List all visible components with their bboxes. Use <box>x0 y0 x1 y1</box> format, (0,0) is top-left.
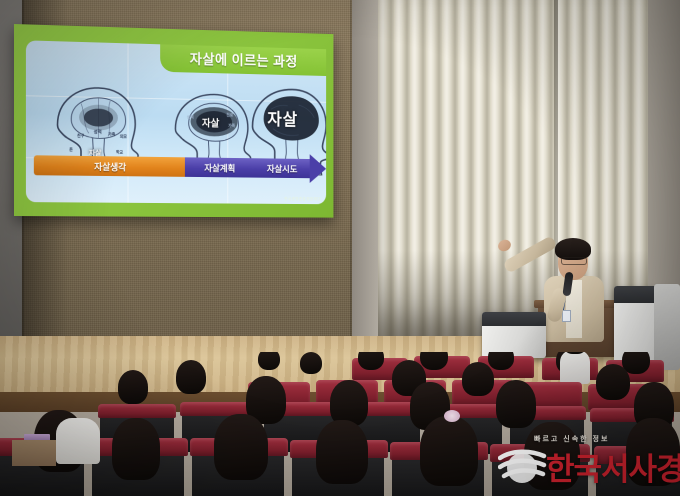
person-head-foreground <box>420 416 478 486</box>
process-segment-1-label: 자살생각 <box>94 160 126 173</box>
av-cart-left-top <box>482 312 546 326</box>
thought-word: 돈 <box>69 147 73 153</box>
thought-word: 학교 <box>116 149 123 155</box>
person-head <box>488 352 514 370</box>
thought-word: 성적 <box>187 114 194 120</box>
person-head <box>496 380 536 428</box>
wave-logo-icon <box>498 448 550 484</box>
auditorium-photo: 자살에 이르는 과정 자살 친구 성적 가족 외모 돈 진로 <box>0 0 680 496</box>
person-head-foreground <box>214 414 268 480</box>
thought-word: 친구 <box>77 133 84 139</box>
side-desk <box>12 440 56 466</box>
watermark-tagline: 빠르고 신속한 정보 <box>534 434 609 444</box>
hair-accessory <box>444 410 460 422</box>
standing-student <box>560 352 590 384</box>
person-head <box>300 352 322 374</box>
speaker-glasses-icon <box>561 257 587 265</box>
speaker-raised-arm <box>502 235 557 274</box>
slide-title-band: 자살에 이르는 과정 <box>160 44 326 76</box>
thought-word: 진로 <box>226 112 233 118</box>
student-light-shirt <box>56 418 100 464</box>
process-segment-3-label: 자살시도 <box>267 162 298 175</box>
brain-label-stage-3: 자살 <box>267 105 298 130</box>
slide-title: 자살에 이르는 과정 <box>190 49 298 71</box>
process-segment-2: 자살계획 <box>185 157 254 177</box>
watermark: 빠르고 신속한 정보 한국서사경제 <box>498 434 674 490</box>
presentation-screen[interactable]: 자살에 이르는 과정 자살 친구 성적 가족 외모 돈 진로 <box>14 24 333 218</box>
thought-word: 가족 <box>108 132 115 138</box>
person-head <box>358 352 384 370</box>
person-head <box>258 352 280 370</box>
person-head-foreground <box>316 420 368 484</box>
speaker-id-badge <box>562 310 571 322</box>
thought-word: 가족 <box>228 123 235 129</box>
person-head <box>176 360 206 394</box>
slide-logo: 한국생명존중희망재단 <box>284 196 320 202</box>
person-head-foreground <box>112 418 160 480</box>
watermark-brand: 한국서사경제 <box>546 444 680 489</box>
person-head <box>596 364 630 400</box>
process-segment-3: 자살시도 <box>254 158 309 178</box>
slide-content: 자살에 이르는 과정 자살 친구 성적 가족 외모 돈 진로 <box>26 40 326 204</box>
thought-word: 외모 <box>120 134 127 140</box>
process-bar: 자살생각 자살계획 자살시도 <box>26 155 326 178</box>
person-head <box>462 362 494 396</box>
process-segment-2-label: 자살계획 <box>204 161 235 174</box>
brain-label-stage-2: 자살 <box>202 115 219 130</box>
person-head <box>118 370 148 404</box>
wall-right-corner <box>352 0 380 352</box>
seat-row-b-top <box>98 404 176 418</box>
process-arrow-icon <box>310 154 326 183</box>
thought-word: 성적 <box>94 129 102 135</box>
process-segment-1: 자살생각 <box>34 155 185 177</box>
person-head <box>330 380 368 426</box>
